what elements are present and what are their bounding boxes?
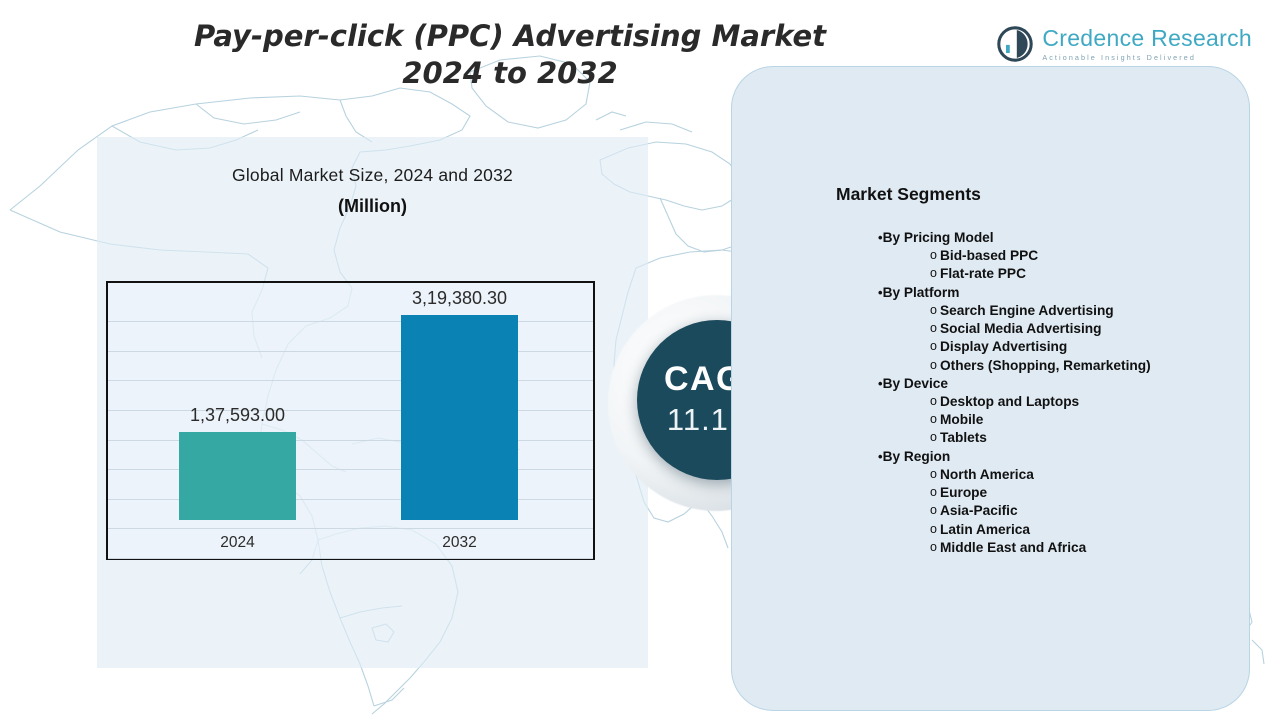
segment-item-label: Latin America [940, 521, 1248, 539]
segment-item-label: Flat-rate PPC [940, 265, 1248, 283]
chart-title: Global Market Size, 2024 and 2032 [97, 165, 648, 186]
page-title-line1: Pay-per-click (PPC) Advertising Market [194, 19, 826, 53]
segment-item: oDisplay Advertising [878, 338, 1248, 356]
segment-item: oFlat-rate PPC [878, 265, 1248, 283]
infographic-canvas: Pay-per-click (PPC) Advertising Market 2… [0, 0, 1280, 720]
sub-bullet-icon: o [878, 338, 940, 356]
segment-item: oMobile [878, 411, 1248, 429]
segment-item: oBid-based PPC [878, 247, 1248, 265]
bar-2032: 3,19,380.30 2032 [401, 315, 518, 520]
bar-category-2024: 2024 [220, 534, 254, 552]
segment-item: oNorth America [878, 466, 1248, 484]
sub-bullet-icon: o [878, 411, 940, 429]
gridline [108, 528, 593, 529]
bar-value-2024: 1,37,593.00 [190, 405, 285, 426]
segment-item: oLatin America [878, 521, 1248, 539]
market-segments-list: •By Pricing ModeloBid-based PPCoFlat-rat… [878, 229, 1248, 557]
segment-item: oSearch Engine Advertising [878, 302, 1248, 320]
segment-item: oTablets [878, 429, 1248, 447]
segment-item: oOthers (Shopping, Remarketing) [878, 357, 1248, 375]
segment-item: oSocial Media Advertising [878, 320, 1248, 338]
brand-name: Credence Research [1042, 27, 1252, 50]
sub-bullet-icon: o [878, 539, 940, 557]
segment-group-name: By Platform [883, 285, 960, 300]
segment-group: •By PlatformoSearch Engine AdvertisingoS… [878, 284, 1248, 375]
segment-group-name: By Region [883, 449, 951, 464]
sub-bullet-icon: o [878, 265, 940, 283]
segment-group-label: •By Platform [878, 284, 1248, 302]
brand-tagline: Actionable Insights Delivered [1042, 54, 1252, 61]
bar-2024: 1,37,593.00 2024 [179, 432, 296, 520]
segment-group-label: •By Device [878, 375, 1248, 393]
bar-rect-2032 [401, 315, 518, 520]
sub-bullet-icon: o [878, 393, 940, 411]
segment-group-name: By Pricing Model [883, 230, 994, 245]
bar-rect-2024 [179, 432, 296, 520]
bar-value-2032: 3,19,380.30 [412, 288, 507, 309]
segment-item-label: Mobile [940, 411, 1248, 429]
segment-item-label: Desktop and Laptops [940, 393, 1248, 411]
segment-group: •By RegionoNorth AmericaoEuropeoAsia-Pac… [878, 448, 1248, 557]
segment-group: •By Pricing ModeloBid-based PPCoFlat-rat… [878, 229, 1248, 284]
segment-item-label: Search Engine Advertising [940, 302, 1248, 320]
segment-item-label: Others (Shopping, Remarketing) [940, 357, 1248, 375]
chart-plot-area: 1,37,593.00 2024 3,19,380.30 2032 [106, 281, 595, 560]
segment-item-label: Asia-Pacific [940, 502, 1248, 520]
segment-group-label: •By Pricing Model [878, 229, 1248, 247]
sub-bullet-icon: o [878, 429, 940, 447]
gridline [108, 351, 593, 352]
bar-category-2032: 2032 [442, 534, 476, 552]
sub-bullet-icon: o [878, 521, 940, 539]
gridline [108, 380, 593, 381]
sub-bullet-icon: o [878, 357, 940, 375]
bar-chart-circle-logo-icon [997, 26, 1033, 62]
segment-item: oAsia-Pacific [878, 502, 1248, 520]
sub-bullet-icon: o [878, 247, 940, 265]
segment-item-label: Middle East and Africa [940, 539, 1248, 557]
segment-item-label: Display Advertising [940, 338, 1248, 356]
segment-item-label: Tablets [940, 429, 1248, 447]
segment-group-name: By Device [883, 376, 948, 391]
chart-subtitle: (Million) [97, 196, 648, 217]
segment-group-label: •By Region [878, 448, 1248, 466]
market-segments-title: Market Segments [836, 184, 981, 205]
sub-bullet-icon: o [878, 484, 940, 502]
segment-group: •By DeviceoDesktop and LaptopsoMobileoTa… [878, 375, 1248, 448]
segment-item-label: Social Media Advertising [940, 320, 1248, 338]
sub-bullet-icon: o [878, 302, 940, 320]
segment-item-label: North America [940, 466, 1248, 484]
segment-item: oMiddle East and Africa [878, 539, 1248, 557]
segment-item-label: Bid-based PPC [940, 247, 1248, 265]
brand-text: Credence Research Actionable Insights De… [1042, 27, 1252, 61]
segment-item: oEurope [878, 484, 1248, 502]
sub-bullet-icon: o [878, 320, 940, 338]
gridline [108, 321, 593, 322]
gridline [108, 558, 593, 559]
segment-item-label: Europe [940, 484, 1248, 502]
sub-bullet-icon: o [878, 466, 940, 484]
brand-logo: Credence Research Actionable Insights De… [997, 26, 1252, 62]
segment-item: oDesktop and Laptops [878, 393, 1248, 411]
gridline [108, 410, 593, 411]
sub-bullet-icon: o [878, 502, 940, 520]
